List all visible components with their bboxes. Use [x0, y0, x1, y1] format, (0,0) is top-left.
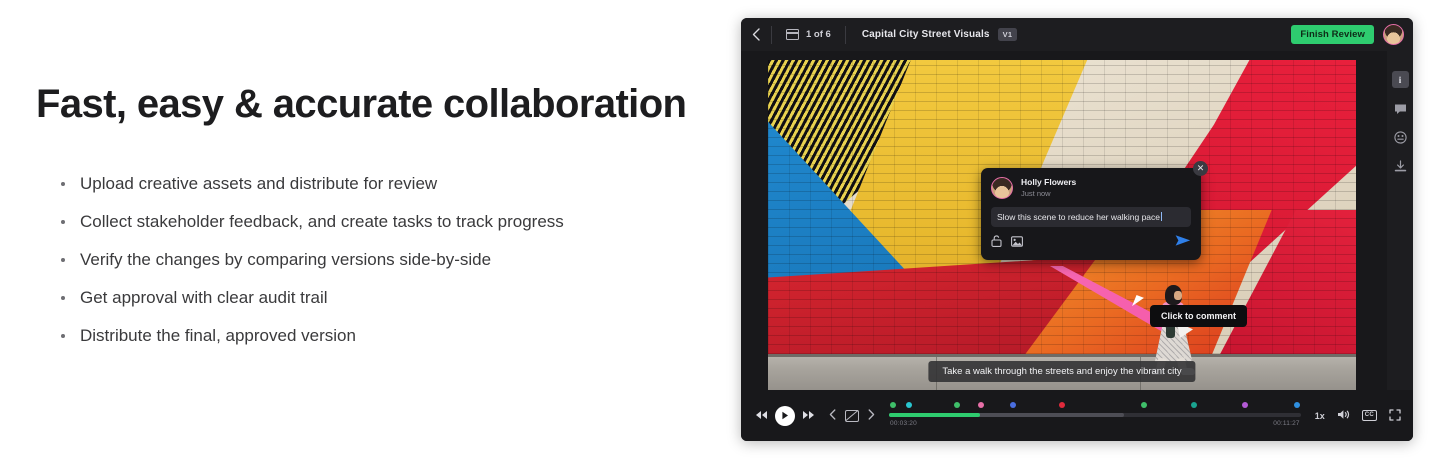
curb-line [768, 354, 1356, 357]
next-frame-button[interactable] [868, 407, 875, 425]
asset-title-group: Capital City Street Visuals V1 [846, 28, 1018, 41]
chevron-left-icon [829, 409, 836, 420]
current-time-label: 00:03:20 [890, 420, 917, 427]
list-item-label: Collect stakeholder feedback, and create… [80, 212, 564, 231]
comment-input-value: Slow this scene to reduce her walking pa… [997, 212, 1160, 222]
list-item: Upload creative assets and distribute fo… [58, 165, 564, 203]
page-title: Fast, easy & accurate collaboration [36, 82, 686, 127]
list-item: Collect stakeholder feedback, and create… [58, 203, 564, 241]
chevron-left-icon [752, 28, 760, 41]
list-item: Get approval with clear audit trail [58, 279, 564, 317]
list-item: Verify the changes by comparing versions… [58, 241, 564, 279]
text-caret [1161, 212, 1162, 221]
bullet-dot-icon [61, 258, 65, 262]
comment-marker[interactable] [1242, 402, 1248, 408]
topbar-actions: Finish Review [1291, 24, 1413, 45]
bullet-dot-icon [61, 182, 65, 186]
comment-markers [889, 401, 1301, 410]
bullet-dot-icon [61, 296, 65, 300]
avatar[interactable] [1383, 24, 1404, 45]
info-icon[interactable]: i [1392, 71, 1409, 88]
transport-controls [755, 406, 815, 426]
comment-author: Holly Flowers [1021, 177, 1076, 188]
close-icon[interactable]: ✕ [1193, 161, 1208, 176]
timeline-progress [889, 413, 980, 417]
frame-counter[interactable]: 1 of 6 [772, 29, 845, 40]
fullscreen-icon[interactable] [1389, 409, 1401, 423]
comment-marker[interactable] [954, 402, 960, 408]
send-icon[interactable] [1175, 234, 1191, 252]
list-item-label: Verify the changes by comparing versions… [80, 250, 491, 269]
total-time-label: 00:11:27 [1273, 420, 1299, 427]
app-topbar: 1 of 6 Capital City Street Visuals V1 Fi… [741, 18, 1413, 51]
asset-title: Capital City Street Visuals [862, 29, 990, 40]
comment-marker[interactable] [1141, 402, 1147, 408]
comment-input[interactable]: Slow this scene to reduce her walking pa… [991, 207, 1191, 227]
avatar [991, 177, 1013, 199]
comment-timestamp: Just now [1021, 188, 1076, 199]
comment-toolbar [991, 234, 1191, 252]
comment-marker[interactable] [978, 402, 984, 408]
frame-counter-label: 1 of 6 [806, 29, 831, 40]
volume-icon[interactable] [1337, 409, 1350, 422]
timeline[interactable]: 00:03:20 00:11:27 [889, 401, 1301, 431]
subtitle-caption: Take a walk through the streets and enjo… [928, 361, 1195, 382]
comment-popup[interactable]: ✕ Holly Flowers Just now Slow this scene… [981, 168, 1201, 260]
list-item-label: Upload creative assets and distribute fo… [80, 174, 437, 193]
list-item: Distribute the final, approved version [58, 317, 564, 355]
person-face [1174, 291, 1182, 300]
comment-marker[interactable] [1059, 402, 1065, 408]
player-right-controls: 1x CC [1315, 409, 1401, 423]
comment-icon[interactable] [1392, 100, 1409, 117]
bullet-dot-icon [61, 220, 65, 224]
play-button[interactable] [775, 406, 795, 426]
frame-icon [786, 29, 799, 40]
emoji-icon[interactable] [1392, 129, 1409, 146]
version-badge[interactable]: V1 [998, 28, 1018, 41]
comment-marker[interactable] [1010, 402, 1016, 408]
right-icon-rail: i [1387, 51, 1413, 441]
comment-marker[interactable] [1294, 402, 1300, 408]
review-app-window: 1 of 6 Capital City Street Visuals V1 Fi… [741, 18, 1413, 441]
comment-marker[interactable] [1191, 402, 1197, 408]
back-button[interactable] [741, 18, 771, 51]
player-controls: 00:03:20 00:11:27 1x CC [741, 390, 1413, 441]
prev-frame-button[interactable] [829, 407, 836, 425]
playback-speed-button[interactable]: 1x [1315, 411, 1325, 421]
comment-marker[interactable] [906, 402, 912, 408]
video-stage[interactable]: Click to comment ✕ Holly Flowers Just no… [768, 60, 1356, 390]
hide-comments-icon[interactable] [845, 410, 859, 422]
captions-button[interactable]: CC [1362, 410, 1377, 421]
timeline-track[interactable] [889, 413, 1301, 417]
unlock-icon[interactable] [991, 234, 1002, 252]
bullet-dot-icon [61, 334, 65, 338]
marketing-column: Fast, easy & accurate collaboration Uplo… [0, 0, 720, 459]
skip-back-icon[interactable] [755, 407, 768, 425]
feature-list: Upload creative assets and distribute fo… [58, 165, 564, 355]
list-item-label: Get approval with clear audit trail [80, 288, 328, 307]
play-icon [781, 411, 789, 420]
skip-forward-icon[interactable] [802, 407, 815, 425]
click-to-comment-tooltip: Click to comment [1150, 305, 1247, 327]
image-icon[interactable] [1011, 234, 1023, 252]
finish-review-button[interactable]: Finish Review [1291, 25, 1374, 44]
comment-header: Holly Flowers Just now [991, 177, 1191, 199]
frame-navigation [829, 407, 875, 425]
download-icon[interactable] [1392, 158, 1409, 175]
chevron-right-icon [868, 409, 875, 420]
list-item-label: Distribute the final, approved version [80, 326, 356, 345]
comment-marker[interactable] [890, 402, 896, 408]
